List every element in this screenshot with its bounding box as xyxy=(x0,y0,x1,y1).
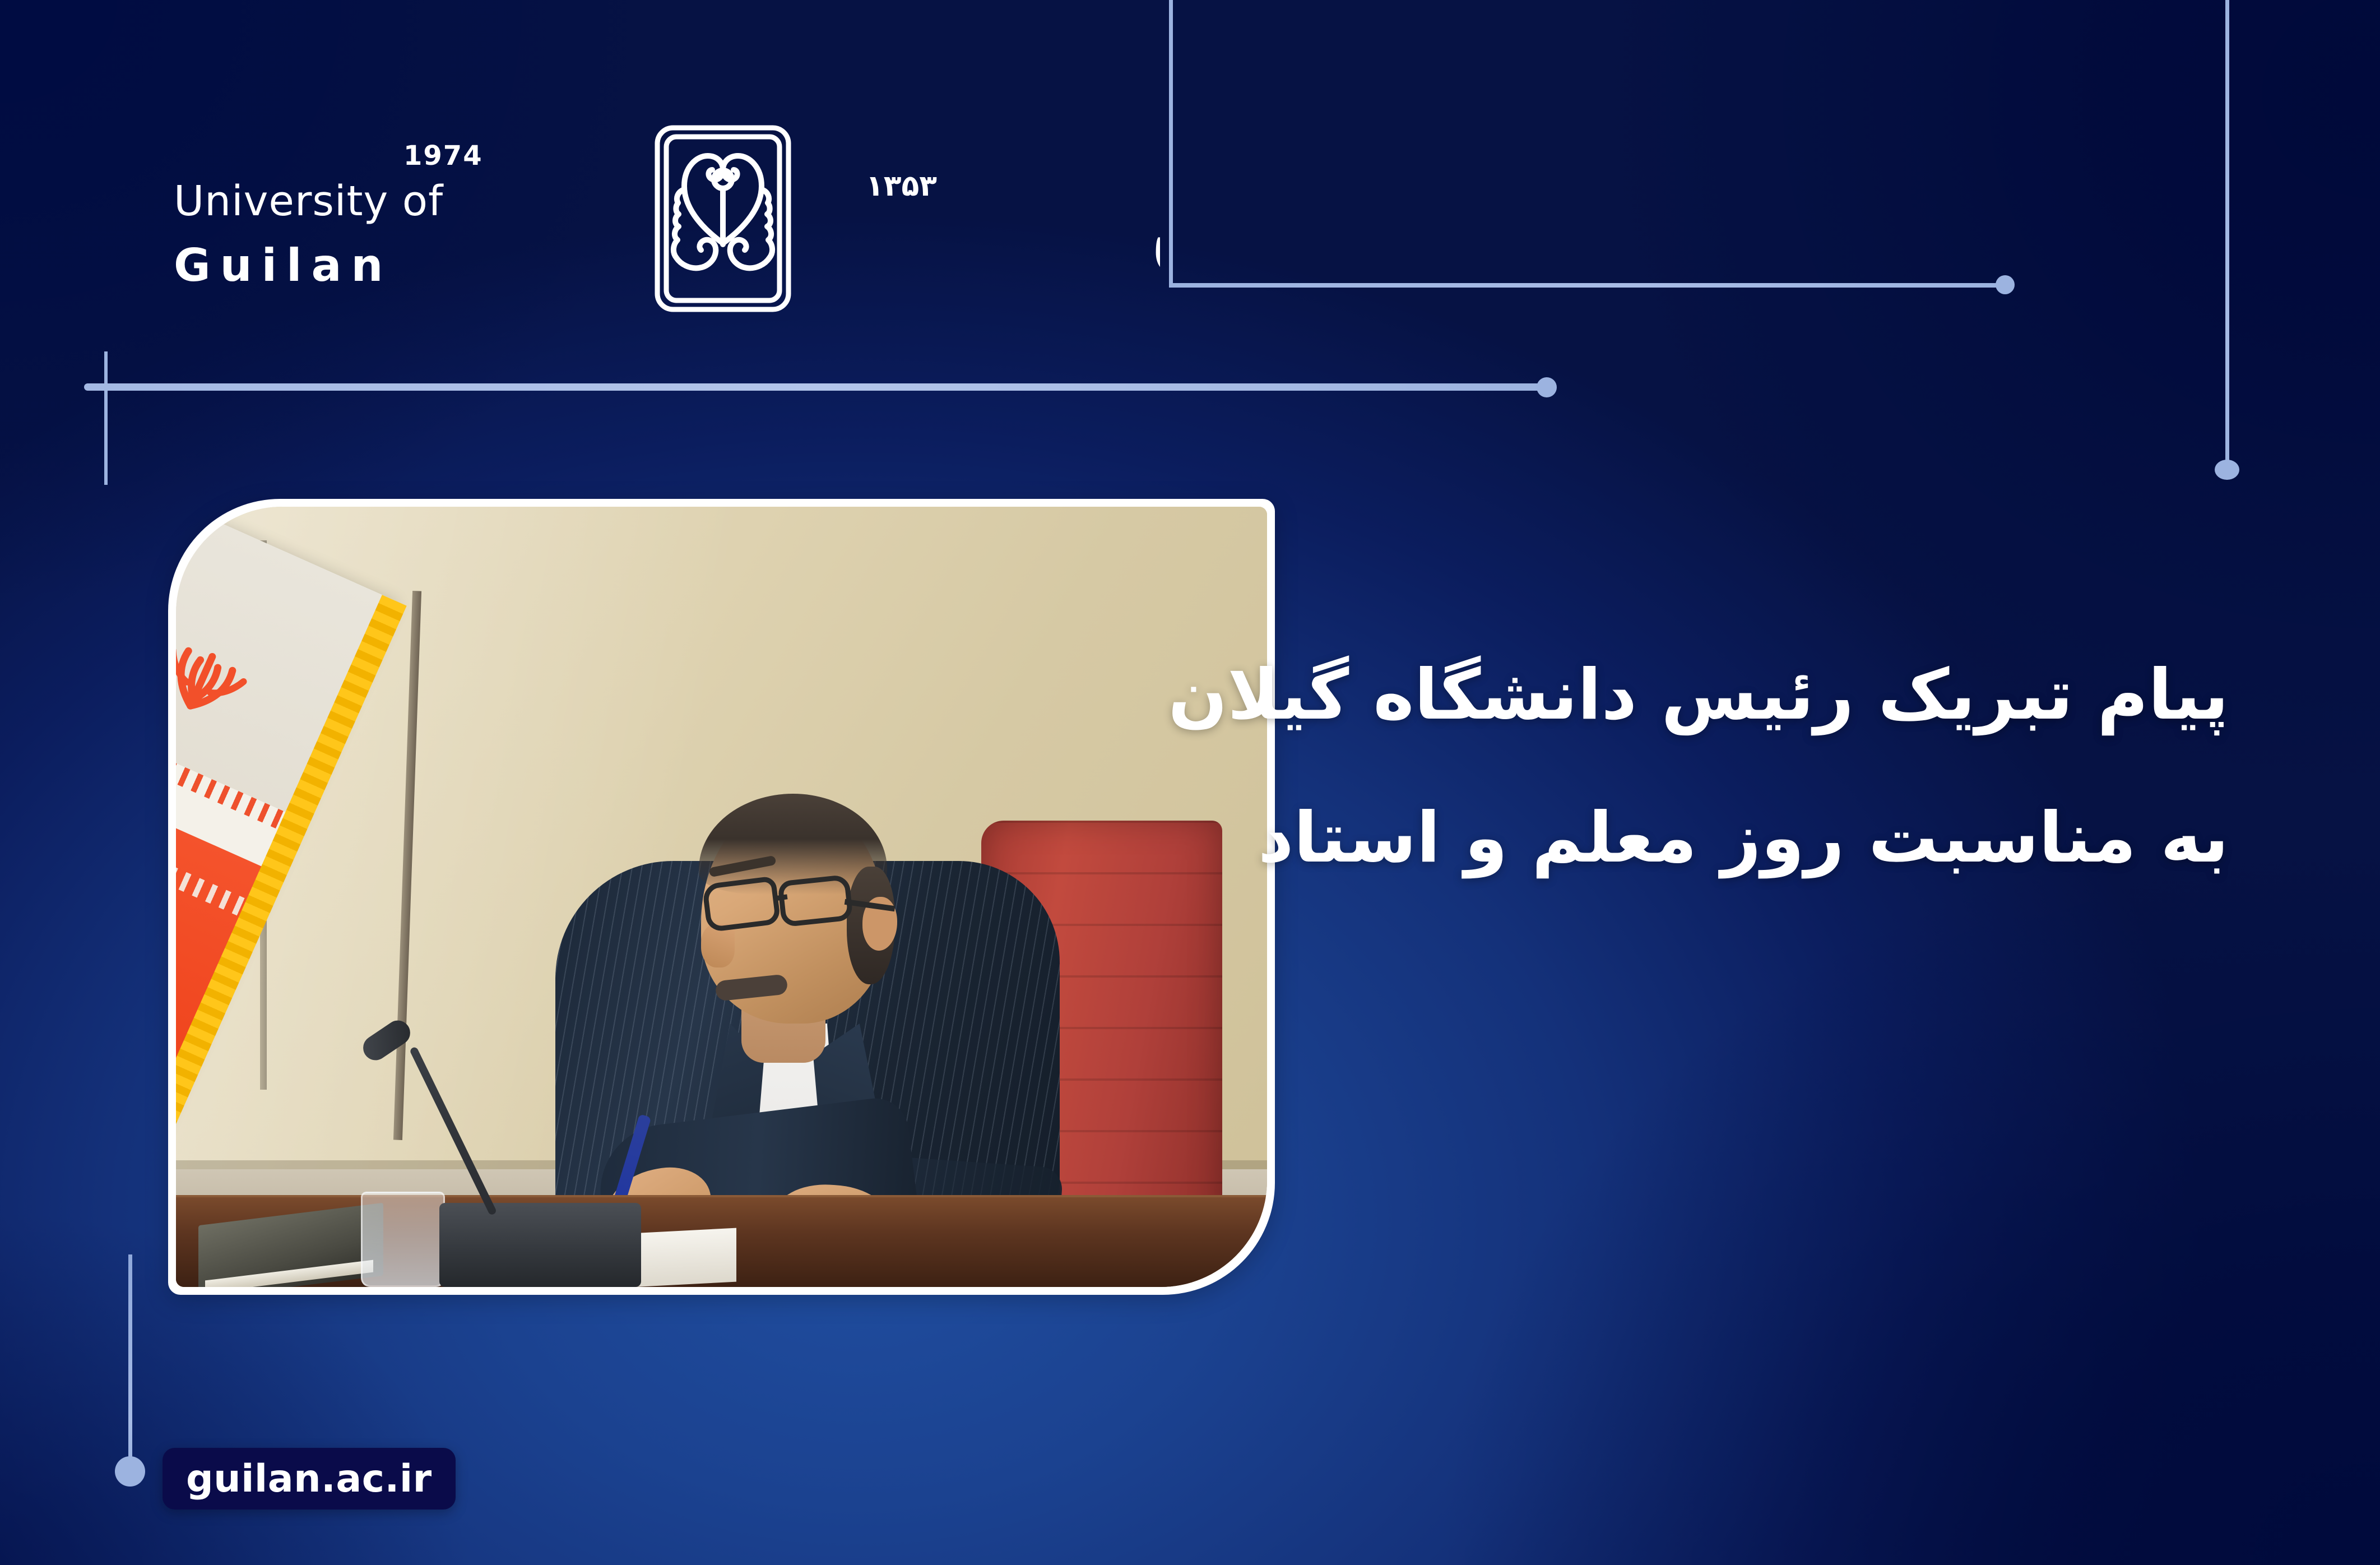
eyeglasses-left-lens-icon xyxy=(702,876,781,932)
microphone-base xyxy=(439,1203,641,1287)
featured-photo-card: رئیس دانشگاه گیلان در حال نگارش پیام xyxy=(168,499,1275,1295)
university-name-english: University of Guilan xyxy=(174,180,488,288)
left-bracket-end-dot-icon xyxy=(1537,377,1557,397)
university-name-persian-calligraphy: دانشگاه گیلان دانشگاه گیلان xyxy=(757,112,1160,336)
eyeglasses-right-lens-icon xyxy=(777,874,853,928)
left-bracket-horizontal-line xyxy=(84,383,1552,391)
person-university-president xyxy=(533,631,1082,1287)
university-name-english-line2: Guilan xyxy=(174,243,488,288)
top-right-bracket-end-dot-icon xyxy=(1996,275,2015,294)
drinking-glass xyxy=(361,1192,445,1287)
left-bracket-vertical-line xyxy=(104,351,108,485)
featured-photo: رئیس دانشگاه گیلان در حال نگارش پیام xyxy=(176,507,1267,1287)
svg-text:دانشگاه گیلان: دانشگاه گیلان xyxy=(1149,169,1160,284)
headline-line-2: به مناسبت روز معلم و استاد xyxy=(1203,782,2229,895)
website-url-badge[interactable]: guilan.ac.ir xyxy=(163,1448,456,1510)
university-logo-lockup: 1974 University of Guilan ۱۳۵۳ xyxy=(168,129,1154,364)
university-name-english-line1: University of xyxy=(174,180,488,222)
right-marker-end-dot-icon xyxy=(2215,460,2239,480)
top-right-bracket-horizontal-line xyxy=(1169,283,2003,288)
right-marker-vertical-line xyxy=(2225,0,2229,463)
guilan-university-announcement-banner: 1974 University of Guilan ۱۳۵۳ xyxy=(0,0,2380,1565)
top-right-bracket-vertical-line xyxy=(1169,0,1173,287)
bottom-left-marker-end-dot-icon xyxy=(115,1456,145,1487)
bottom-left-marker-vertical-line xyxy=(128,1254,132,1463)
announcement-headline: پیام تبریک رئیس دانشگاه گیلان به مناسبت … xyxy=(1203,639,2229,895)
headline-line-1: پیام تبریک رئیس دانشگاه گیلان xyxy=(1203,639,2229,752)
founded-year-gregorian: 1974 xyxy=(403,140,483,172)
